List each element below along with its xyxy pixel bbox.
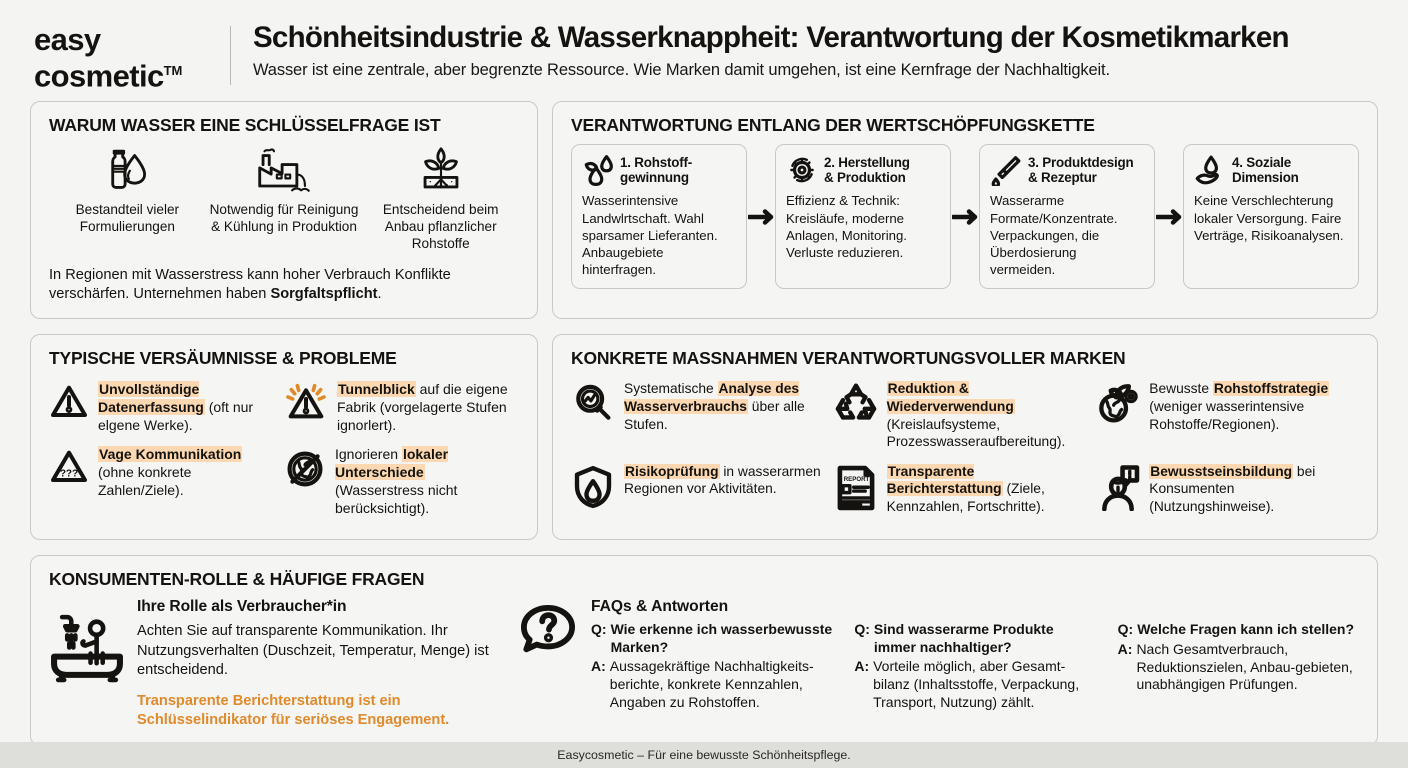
problem-item-2: ??? Vage Kommunikation (ohne konkrete Za… — [49, 442, 284, 525]
faq-question-2: Q:Welche Fragen kann ich stellen? — [1118, 621, 1359, 639]
recycle-icon — [834, 380, 878, 450]
water-bottle-droplet-icon — [49, 144, 206, 196]
card-problems: TYPISCHE VERSÄUMNISSE & PROBLEME Unvolls… — [30, 334, 538, 540]
problem-text-2: Vage Kommunikation (ohne konkrete Zahlen… — [98, 445, 280, 517]
faq-list: Q:Wie erkenne ich wasserbewusste Marken?… — [591, 621, 1359, 711]
chain-step-title-2: 2. Herstellung & Produktion — [824, 155, 910, 186]
why-water-caption-1: Notwendig für Reinigung & Kühlung in Pro… — [206, 201, 363, 235]
faq-item-2: Q:Welche Fragen kann ich stellen? A:Nach… — [1118, 621, 1359, 711]
globe-leaf-gear-icon — [1096, 380, 1140, 450]
header-divider — [230, 26, 231, 85]
bathtub-shower-person-icon — [49, 598, 125, 731]
page-title: Schönheitsindustrie & Wasserknappheit: V… — [253, 20, 1380, 56]
why-water-caption-0: Bestandteil vieler Formulierungen — [49, 201, 206, 235]
chain-step-title-3: 3. Produktdesign & Rezeptur — [1028, 155, 1133, 186]
report-document-icon: REPORT — [834, 463, 878, 516]
chain-step-body-1: Wasserintensive Landwlrtschaft. Wahl spa… — [582, 192, 736, 278]
why-water-item-1: Notwendig für Reinigung & Kühlung in Pro… — [206, 144, 363, 252]
card-why-water: WARUM WASSER EINE SCHLÜSSELFRAGE IST — [30, 101, 538, 319]
chain-step-body-3: Wasserarme Formate/Konzentrate. Verpacku… — [990, 192, 1144, 278]
chain-step-1: 1. Rohstoff- gewinnung Wasserintensive L… — [571, 144, 747, 289]
chain-arrow-3 — [1155, 144, 1183, 289]
card-value-chain: VERANTWORTUNG ENTLANG DER WERTSCHÖPFUNGS… — [552, 101, 1378, 319]
faq-answer-1: A:Vorteile möglich, aber Gesamt-bilanz (… — [854, 658, 1095, 711]
chain-arrow-2 — [951, 144, 979, 289]
plant-sprout-soil-icon — [362, 144, 519, 196]
problem-text-3: Ignorieren lokaler Unterschiede (Wassers… — [335, 445, 515, 517]
footer-text: Easycosmetic – Für eine bewusste Schönhe… — [557, 748, 850, 762]
consumer-role-title: Ihre Rolle als Verbraucher*in — [137, 598, 509, 616]
magnifier-chart-icon — [571, 380, 615, 450]
why-water-note: In Regionen mit Wasserstress kann hoher … — [49, 266, 519, 304]
chain-step-3: 3. Produktdesign & Rezeptur Wasserarme F… — [979, 144, 1155, 289]
measure-item-3: Risikoprüfung in wasserarmen Regionen vo… — [571, 460, 834, 525]
chain-step-title-1: 1. Rohstoff- gewinnung — [620, 155, 692, 186]
why-water-caption-2: Entscheidend beim Anbau pflanzlicher Roh… — [362, 201, 519, 252]
row-3: KONSUMENTEN-ROLLE & HÄUFIGE FRAGEN — [30, 555, 1378, 746]
consumer-role-body: Achten Sie auf transparente Kommunikatio… — [137, 622, 509, 681]
measure-text-3: Risikoprüfung in wasserarmen Regionen vo… — [624, 463, 824, 516]
card-title-why-water: WARUM WASSER EINE SCHLÜSSELFRAGE IST — [49, 115, 519, 136]
brand-line-2: cosmeticTM — [34, 55, 182, 91]
card-title-measures: KONKRETE MASSNAHMEN VERANTWORTUNGSVOLLER… — [571, 348, 1359, 369]
measure-text-2: Bewusste Rohstoffstrategie (weniger wass… — [1149, 380, 1349, 450]
problem-text-1: Tunnelblick auf die eigene Fabrik (vorge… — [337, 380, 515, 434]
infographic-page: easy cosmeticTM Schönheitsindustrie & Wa… — [0, 0, 1408, 768]
faq-item-1: Q:Sind wasserarme Produkte immer nachhal… — [854, 621, 1095, 711]
brand-line-1: easy — [34, 24, 230, 55]
measure-item-2: Bewusste Rohstoffstrategie (weniger wass… — [1096, 377, 1359, 459]
faq-answer-0: A:Aussagekräftige Nachhaltigkeits-berich… — [591, 658, 832, 711]
chain-step-body-2: Effizienz & Technik: Kreisläufe, moderne… — [786, 192, 940, 261]
measure-items: Systematische Analyse des Wasserverbrauc… — [571, 377, 1359, 524]
measure-text-1: Reduktion & Wiederverwendung (Kreislaufs… — [887, 380, 1087, 450]
svg-text:REPORT: REPORT — [843, 476, 869, 483]
shield-droplet-icon — [571, 463, 615, 516]
why-water-item-0: Bestandteil vieler Formulierungen — [49, 144, 206, 252]
chain-arrow-1 — [747, 144, 775, 289]
consumer-role: Ihre Rolle als Verbraucher*in Achten Sie… — [49, 598, 519, 731]
measure-item-0: Systematische Analyse des Wasserverbrauc… — [571, 377, 834, 459]
chain-step-title-4: 4. Soziale Dimension — [1232, 155, 1299, 186]
measure-item-4: REPORT Transparente Berichterstattung (Z… — [834, 460, 1097, 525]
faq-question-0: Q:Wie erkenne ich wasserbewusste Marken? — [591, 621, 832, 656]
measure-item-5: Bewusstseinsbildung bei Konsumenten (Nut… — [1096, 460, 1359, 525]
problem-item-3: Ignorieren lokaler Unterschiede (Wassers… — [284, 442, 519, 525]
problem-text-0: Unvollständige Datenerfassung (oft nur e… — [98, 380, 280, 434]
svg-text:???: ??? — [60, 469, 78, 480]
card-title-consumer: KONSUMENTEN-ROLLE & HÄUFIGE FRAGEN — [49, 569, 1359, 590]
measure-text-4: Transparente Berichterstattung (Ziele, K… — [887, 463, 1087, 516]
content-grid: WARUM WASSER EINE SCHLÜSSELFRAGE IST — [0, 101, 1408, 746]
chain-step-body-4: Keine Verschlechterung lokaler Versorgun… — [1194, 192, 1348, 244]
person-speech-bubble-icon — [1096, 463, 1140, 516]
pipette-dropper-icon — [990, 154, 1022, 186]
card-consumer: KONSUMENTEN-ROLLE & HÄUFIGE FRAGEN — [30, 555, 1378, 746]
problem-items: Unvollständige Datenerfassung (oft nur e… — [49, 377, 519, 525]
warning-triangle-icon — [49, 380, 89, 434]
brand-logo: easy cosmeticTM — [34, 18, 230, 91]
measure-text-0: Systematische Analyse des Wasserverbrauc… — [624, 380, 824, 450]
no-globe-icon — [284, 445, 326, 517]
faq-item-0: Q:Wie erkenne ich wasserbewusste Marken?… — [591, 621, 832, 711]
card-title-value-chain: VERANTWORTUNG ENTLANG DER WERTSCHÖPFUNGS… — [571, 115, 1359, 136]
value-chain-steps: 1. Rohstoff- gewinnung Wasserintensive L… — [571, 144, 1359, 289]
row-2: TYPISCHE VERSÄUMNISSE & PROBLEME Unvolls… — [30, 334, 1378, 540]
why-water-item-2: Entscheidend beim Anbau pflanzlicher Roh… — [362, 144, 519, 252]
hand-droplet-icon — [1194, 154, 1226, 186]
faq-zone: FAQs & Antworten Q:Wie erkenne ich wasse… — [519, 598, 1359, 731]
why-water-items: Bestandteil vieler Formulierungen — [49, 144, 519, 252]
chain-step-2: 2. Herstellung & Produktion Effizienz & … — [775, 144, 951, 289]
page-subtitle: Wasser ist eine zentrale, aber begrenzte… — [253, 58, 1380, 82]
leaf-droplet-icon — [582, 154, 614, 186]
card-title-problems: TYPISCHE VERSÄUMNISSE & PROBLEME — [49, 348, 519, 369]
problem-item-1: Tunnelblick auf die eigene Fabrik (vorge… — [284, 377, 519, 442]
card-measures: KONKRETE MASSNAHMEN VERANTWORTUNGSVOLLER… — [552, 334, 1378, 540]
consumer-role-accent: Transparente Berichterstattung ist ein S… — [137, 692, 509, 731]
question-triangle-icon: ??? — [49, 445, 89, 517]
trademark-symbol: TM — [164, 63, 183, 78]
chain-step-4: 4. Soziale Dimension Keine Verschlechter… — [1183, 144, 1359, 289]
gear-cycle-icon — [786, 154, 818, 186]
warning-triangle-rays-icon — [284, 380, 328, 434]
faq-header: FAQs & Antworten — [591, 598, 1359, 616]
problem-item-0: Unvollständige Datenerfassung (oft nur e… — [49, 377, 284, 442]
question-speech-bubble-icon — [519, 598, 581, 731]
why-water-note-bold: Sorgfaltspflicht — [270, 286, 377, 302]
measure-item-1: Reduktion & Wiederverwendung (Kreislaufs… — [834, 377, 1097, 459]
factory-water-discharge-icon — [206, 144, 363, 196]
faq-question-1: Q:Sind wasserarme Produkte immer nachhal… — [854, 621, 1095, 656]
row-1: WARUM WASSER EINE SCHLÜSSELFRAGE IST — [30, 101, 1378, 319]
faq-answer-2: A:Nach Gesamtverbrauch, Reduktionszielen… — [1118, 641, 1359, 694]
measure-text-5: Bewusstseinsbildung bei Konsumenten (Nut… — [1149, 463, 1349, 516]
footer: Easycosmetic – Für eine bewusste Schönhe… — [0, 742, 1408, 768]
header: easy cosmeticTM Schönheitsindustrie & Wa… — [0, 0, 1408, 101]
